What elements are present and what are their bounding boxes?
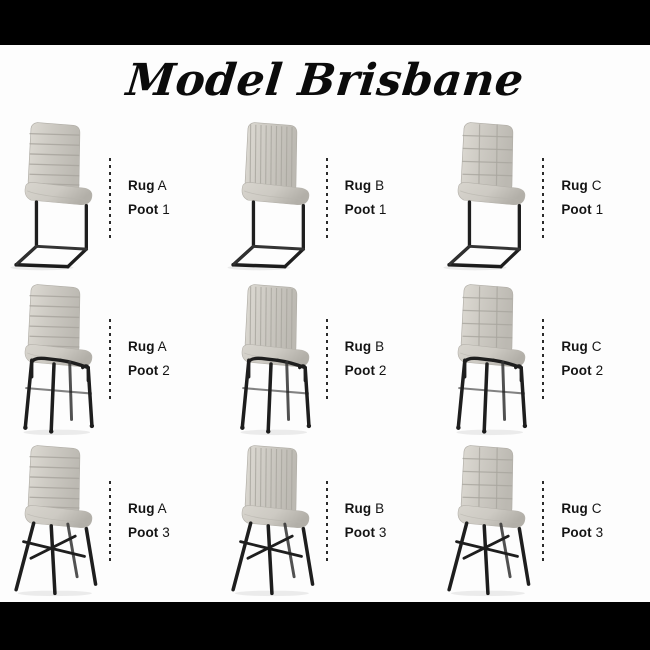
rug-value-a2: A <box>158 339 167 354</box>
rug-key-b2: Rug <box>345 339 372 354</box>
variant-grid: Rug A Poot 1 <box>0 117 650 602</box>
rug-value-c1: C <box>592 178 602 193</box>
chair-illustration-c2 <box>435 279 539 441</box>
variant-labels-a3: Rug A Poot 3 <box>114 497 217 545</box>
poot-value-c3: 3 <box>596 525 604 540</box>
poot-value-a2: 2 <box>162 363 170 378</box>
chair-image-b2[interactable] <box>219 279 323 441</box>
dotted-divider-b1 <box>324 158 331 238</box>
poot-label-b2: Poot 2 <box>345 359 434 383</box>
rug-label-b2: Rug B <box>345 335 434 359</box>
variant-labels-a1: Rug A Poot 1 <box>114 174 217 222</box>
dotted-divider-a1 <box>107 158 114 238</box>
variant-labels-b2: Rug B Poot 2 <box>331 335 434 383</box>
rug-value-b1: B <box>375 178 384 193</box>
dotted-divider-b3 <box>324 481 331 561</box>
variant-cell-a3[interactable]: Rug A Poot 3 <box>0 440 217 602</box>
poot-key-a1: Poot <box>128 202 158 217</box>
poot-value-b1: 1 <box>379 202 387 217</box>
chair-illustration-a1 <box>2 117 106 279</box>
chair-illustration-b3 <box>219 440 323 602</box>
variant-labels-c2: Rug C Poot 2 <box>547 335 650 383</box>
dotted-divider-b2 <box>324 319 331 399</box>
variant-cell-c3[interactable]: Rug C Poot 3 <box>433 440 650 602</box>
poot-key-b1: Poot <box>345 202 375 217</box>
rug-key-a1: Rug <box>128 178 155 193</box>
chair-image-a3[interactable] <box>2 440 106 602</box>
variant-labels-c1: Rug C Poot 1 <box>547 174 650 222</box>
chair-illustration-a2 <box>2 279 106 441</box>
chair-image-a2[interactable] <box>2 279 106 441</box>
variant-cell-a1[interactable]: Rug A Poot 1 <box>0 117 217 279</box>
variant-cell-a2[interactable]: Rug A Poot 2 <box>0 279 217 441</box>
rug-key-a3: Rug <box>128 501 155 516</box>
rug-key-b3: Rug <box>345 501 372 516</box>
rug-label-a2: Rug A <box>128 335 217 359</box>
chair-illustration-b2 <box>219 279 323 441</box>
rug-label-c3: Rug C <box>561 497 650 521</box>
poot-label-b3: Poot 3 <box>345 521 434 545</box>
chair-image-c3[interactable] <box>435 440 539 602</box>
dotted-divider-a2 <box>107 319 114 399</box>
poot-label-c1: Poot 1 <box>561 198 650 222</box>
dotted-divider-a3 <box>107 481 114 561</box>
rug-key-b1: Rug <box>345 178 372 193</box>
poot-key-b3: Poot <box>345 525 375 540</box>
sheet-canvas: Model Brisbane <box>0 45 650 602</box>
variant-labels-b1: Rug B Poot 1 <box>331 174 434 222</box>
rug-value-b2: B <box>375 339 384 354</box>
page-title: Model Brisbane <box>0 55 650 106</box>
rug-value-c3: C <box>592 501 602 516</box>
poot-value-b3: 3 <box>379 525 387 540</box>
poot-label-c2: Poot 2 <box>561 359 650 383</box>
rug-key-c1: Rug <box>561 178 588 193</box>
poot-label-b1: Poot 1 <box>345 198 434 222</box>
dotted-divider-c3 <box>540 481 547 561</box>
chair-image-b1[interactable] <box>219 117 323 279</box>
poot-value-c1: 1 <box>596 202 604 217</box>
chair-illustration-c3 <box>435 440 539 602</box>
dotted-divider-c2 <box>540 319 547 399</box>
chair-image-c2[interactable] <box>435 279 539 441</box>
product-variant-sheet: Model Brisbane <box>0 0 650 650</box>
poot-key-c2: Poot <box>561 363 591 378</box>
variant-cell-b1[interactable]: Rug B Poot 1 <box>217 117 434 279</box>
poot-value-a1: 1 <box>162 202 170 217</box>
variant-labels-b3: Rug B Poot 3 <box>331 497 434 545</box>
rug-value-a1: A <box>158 178 167 193</box>
rug-label-b1: Rug B <box>345 174 434 198</box>
rug-key-c3: Rug <box>561 501 588 516</box>
poot-value-b2: 2 <box>379 363 387 378</box>
poot-key-c1: Poot <box>561 202 591 217</box>
rug-label-b3: Rug B <box>345 497 434 521</box>
rug-label-c1: Rug C <box>561 174 650 198</box>
chair-illustration-a3 <box>2 440 106 602</box>
variant-cell-c1[interactable]: Rug C Poot 1 <box>433 117 650 279</box>
poot-key-a2: Poot <box>128 363 158 378</box>
rug-value-a3: A <box>158 501 167 516</box>
rug-value-c2: C <box>592 339 602 354</box>
variant-cell-b2[interactable]: Rug B Poot 2 <box>217 279 434 441</box>
rug-label-a1: Rug A <box>128 174 217 198</box>
chair-illustration-c1 <box>435 117 539 279</box>
poot-value-a3: 3 <box>162 525 170 540</box>
rug-label-a3: Rug A <box>128 497 217 521</box>
letterbox-top <box>0 0 650 45</box>
variant-labels-c3: Rug C Poot 3 <box>547 497 650 545</box>
poot-label-a2: Poot 2 <box>128 359 217 383</box>
rug-key-c2: Rug <box>561 339 588 354</box>
poot-label-c3: Poot 3 <box>561 521 650 545</box>
poot-key-b2: Poot <box>345 363 375 378</box>
poot-label-a1: Poot 1 <box>128 198 217 222</box>
rug-value-b3: B <box>375 501 384 516</box>
variant-cell-b3[interactable]: Rug B Poot 3 <box>217 440 434 602</box>
rug-label-c2: Rug C <box>561 335 650 359</box>
chair-image-c1[interactable] <box>435 117 539 279</box>
variant-cell-c2[interactable]: Rug C Poot 2 <box>433 279 650 441</box>
rug-key-a2: Rug <box>128 339 155 354</box>
poot-value-c2: 2 <box>596 363 604 378</box>
poot-key-c3: Poot <box>561 525 591 540</box>
poot-label-a3: Poot 3 <box>128 521 217 545</box>
letterbox-bottom <box>0 602 650 650</box>
chair-image-a1[interactable] <box>2 117 106 279</box>
variant-labels-a2: Rug A Poot 2 <box>114 335 217 383</box>
chair-image-b3[interactable] <box>219 440 323 602</box>
chair-illustration-b1 <box>219 117 323 279</box>
dotted-divider-c1 <box>540 158 547 238</box>
poot-key-a3: Poot <box>128 525 158 540</box>
